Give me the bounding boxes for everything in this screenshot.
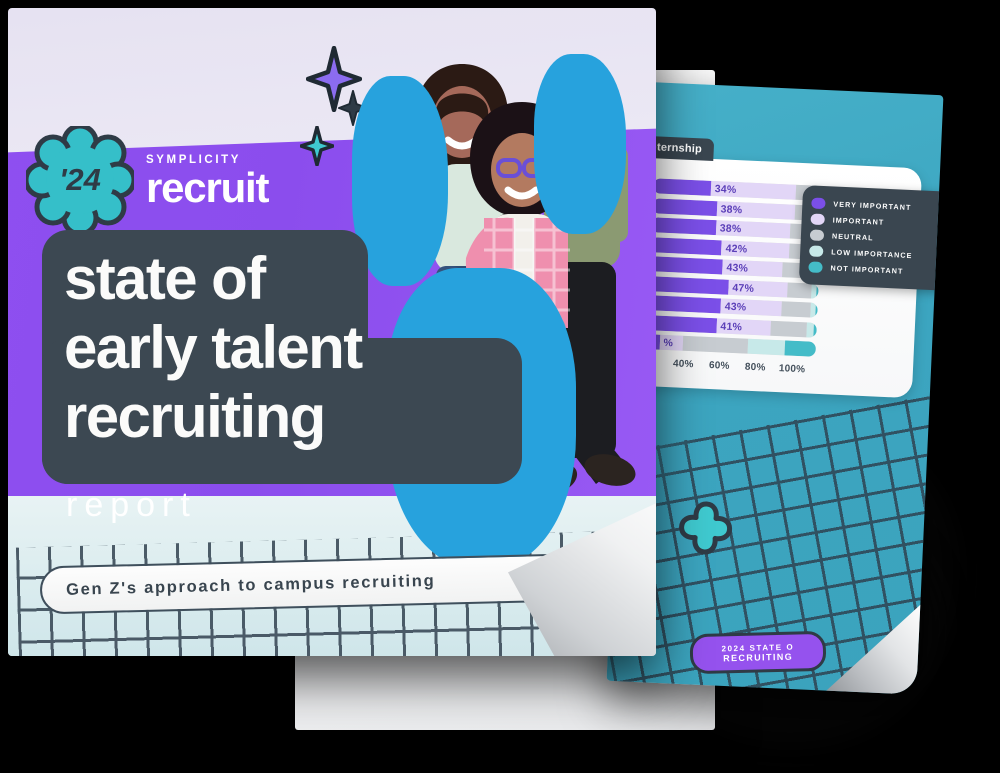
x-axis-tick-label: 40% — [673, 358, 694, 370]
chart-bar-value: 43% — [726, 262, 748, 275]
people-photo — [338, 18, 656, 598]
page-title: state of early talent recruiting — [64, 244, 362, 451]
chart-bar-segment — [653, 178, 711, 196]
chart-bar-value: 42% — [725, 242, 747, 255]
title-line-3: recruiting — [64, 382, 362, 451]
chart-bar-segment — [815, 303, 817, 318]
chart-bar-value: 38% — [720, 203, 742, 216]
chart-bar-value: 47% — [732, 281, 754, 294]
legend-label-important: IMPORTANT — [832, 215, 884, 226]
subtitle-text: Gen Z's approach to campus recruiting — [66, 571, 436, 599]
chart-bar-segment — [648, 276, 728, 295]
chart-bar-value: 41% — [720, 320, 742, 333]
x-axis-tick-label: 80% — [745, 361, 766, 373]
chart-bar-segment — [782, 301, 812, 317]
report-front-cover: '24 SYMPLICITY recruit — [8, 8, 656, 656]
legend-swatch-not-important — [808, 261, 822, 273]
report-label: report — [66, 486, 197, 525]
year-badge-label: '24 — [26, 126, 134, 234]
chart-bar-segment — [748, 339, 786, 356]
x-axis-tick-label: 60% — [709, 359, 730, 371]
chart-bar-segment — [683, 336, 748, 354]
teal-report-page: internship 34%38%38%42%43%47%43%41%% %40… — [607, 81, 944, 694]
legend-swatch-very-important — [811, 197, 825, 209]
chart-card: 34%38%38%42%43%47%43%41%% %40%60%80%100%… — [626, 155, 922, 398]
chart-bar-value: 34% — [714, 183, 736, 196]
legend-label-low-importance: LOW IMPORTANCE — [831, 247, 913, 260]
chart-bar-segment — [650, 237, 722, 255]
chart-bar-segment — [813, 322, 817, 337]
sparkle-star-teal-icon — [300, 126, 334, 166]
chart-bar-segment — [647, 315, 717, 333]
chart-bar-segment — [816, 283, 818, 298]
chart-bar-segment — [652, 198, 717, 216]
chart-bar-segment — [770, 320, 806, 337]
legend-label-neutral: NEUTRAL — [832, 231, 874, 242]
brand-logo: SYMPLICITY recruit — [146, 154, 268, 208]
blue-brush-stroke — [534, 54, 626, 234]
product-mockup-stage: ant. ls and void menial ces. internship … — [0, 0, 1000, 773]
x-axis-tick-label: 100% — [779, 363, 806, 375]
chart-bar-segment — [788, 282, 812, 298]
brand-name-recruit: recruit — [146, 168, 268, 208]
chart-bar-row — [653, 178, 824, 201]
chart-legend: VERY IMPORTANT IMPORTANT NEUTRAL LOW IMP… — [799, 185, 944, 292]
report-badge: 2024 STATE O RECRUITING — [690, 631, 827, 674]
legend-label-not-important: NOT IMPORTANT — [830, 263, 903, 275]
legend-swatch-important — [810, 213, 824, 225]
chart-bar-segment — [651, 217, 716, 235]
chart-bar-value: 38% — [720, 222, 742, 235]
legend-label-very-important: VERY IMPORTANT — [833, 199, 911, 212]
chart-bar-value: % — [663, 337, 673, 349]
chart-bar-segment — [785, 340, 816, 356]
chart-bar-value: 43% — [724, 301, 746, 314]
chart-bar-segment — [647, 295, 721, 313]
cross-flower-icon — [668, 498, 743, 573]
chart-bar-segment — [649, 256, 723, 274]
legend-swatch-low-importance — [809, 245, 823, 257]
badge-line-2: RECRUITING — [723, 651, 793, 663]
title-line-2: early talent — [64, 313, 362, 382]
title-line-1: state of — [64, 244, 362, 313]
legend-swatch-neutral — [810, 229, 824, 241]
